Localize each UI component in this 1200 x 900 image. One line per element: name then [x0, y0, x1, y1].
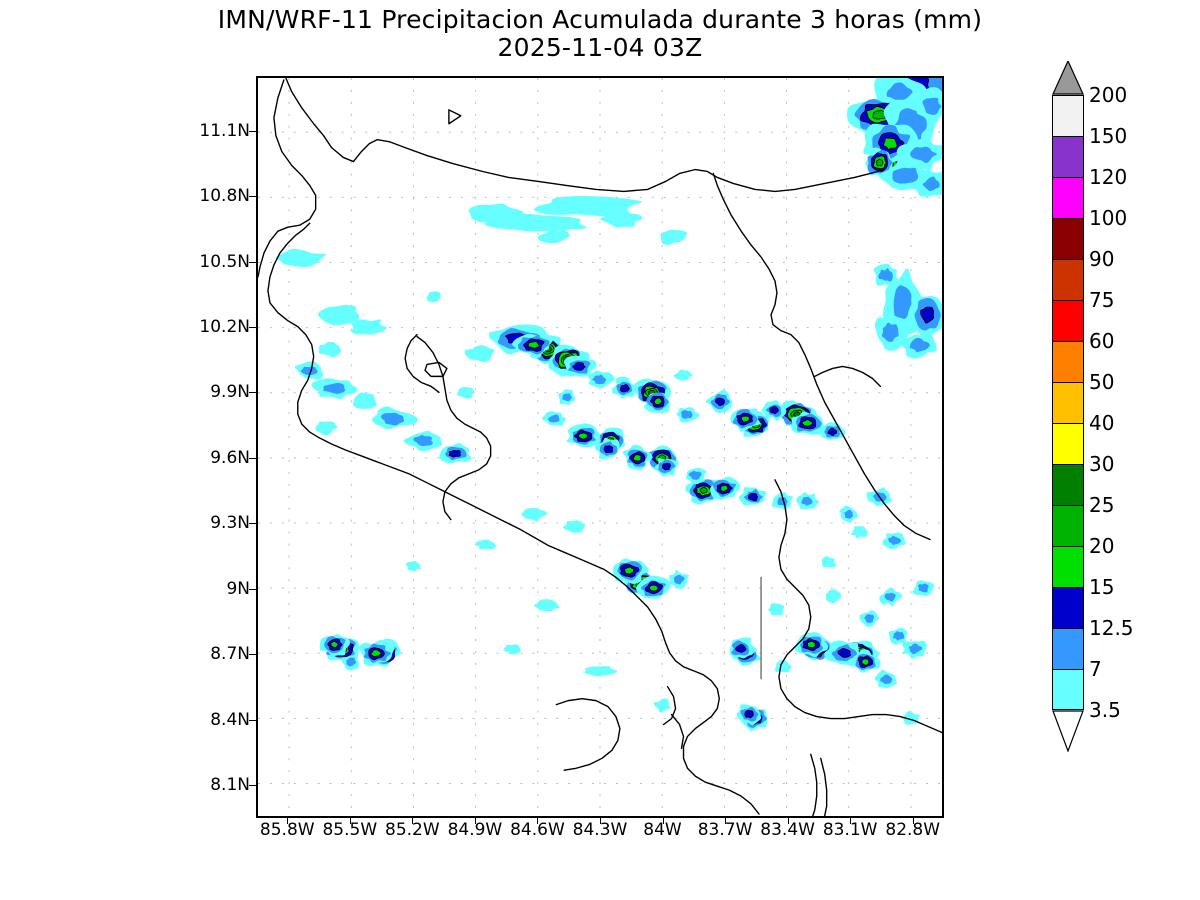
- colorbar-top-arrow: [1052, 61, 1084, 95]
- precipitation-contours: [276, 78, 942, 731]
- precip-cell: [457, 387, 475, 399]
- longitude-tick-mark: [350, 818, 351, 824]
- colorbar-band: [1052, 382, 1084, 423]
- precip-cell: [879, 588, 902, 606]
- precip-cell: [860, 610, 880, 627]
- colorbar-tick-label: 60: [1089, 331, 1114, 351]
- precip-cell: [534, 599, 560, 611]
- precip-cell: [320, 634, 350, 656]
- latitude-tick-mark: [249, 262, 256, 263]
- colorbar-tick-label: 30: [1089, 454, 1114, 474]
- precip-cell: [521, 508, 547, 521]
- colorbar-band: [1052, 464, 1084, 505]
- latitude-tick-mark: [249, 196, 256, 197]
- latitude-tick-mark: [249, 654, 256, 655]
- colorbar-band: [1052, 259, 1084, 300]
- precip-cell: [875, 670, 897, 688]
- precip-cell: [826, 589, 841, 603]
- colorbar-band: [1052, 628, 1084, 669]
- precip-cell: [558, 389, 575, 405]
- latitude-tick-mark: [249, 523, 256, 524]
- colorbar-tick-label: 40: [1089, 413, 1114, 433]
- colorbar-band: [1052, 300, 1084, 341]
- longitude-tick-mark: [788, 818, 789, 824]
- precip-cell: [902, 641, 927, 659]
- longitude-tick-mark: [287, 818, 288, 824]
- precip-cell: [504, 644, 521, 654]
- precip-cell: [587, 371, 614, 389]
- precip-cell: [427, 291, 441, 302]
- colorbar[interactable]: [1052, 95, 1084, 825]
- precip-cell: [661, 230, 687, 245]
- precip-cell: [406, 561, 422, 572]
- precip-cell: [585, 666, 617, 676]
- longitude-tick-mark: [537, 818, 538, 824]
- precip-cell: [912, 580, 933, 596]
- latitude-tick-label: 9N: [196, 579, 250, 599]
- latitude-tick-label: 8.1N: [196, 775, 250, 795]
- longitude-tick-mark: [725, 818, 726, 824]
- colorbar-tick-label: 12.5: [1089, 618, 1134, 638]
- precipitation-map-figure: IMN/WRF-11 Precipitacion Acumulada duran…: [0, 0, 1200, 900]
- latitude-tick-mark: [249, 720, 256, 721]
- precip-cell: [542, 411, 566, 426]
- colorbar-band: [1052, 177, 1084, 218]
- latitude-tick-label: 9.3N: [196, 513, 250, 533]
- figure-title: IMN/WRF-11 Precipitacion Acumulada duran…: [0, 6, 1200, 62]
- precip-cell: [567, 423, 601, 447]
- precip-cell: [901, 334, 937, 358]
- precip-cell: [796, 492, 819, 509]
- precip-cell: [341, 655, 359, 670]
- precip-cell: [655, 458, 678, 476]
- colorbar-band: [1052, 505, 1084, 546]
- colorbar-tick-label: 7: [1089, 659, 1102, 679]
- longitude-tick-mark: [663, 818, 664, 824]
- colorbar-tick-label: 200: [1089, 85, 1127, 105]
- precip-cell: [315, 422, 337, 436]
- longitude-tick-mark: [475, 818, 476, 824]
- colorbar-band: [1052, 136, 1084, 177]
- title-line-1: IMN/WRF-11 Precipitacion Acumulada duran…: [0, 6, 1200, 34]
- precip-cell: [676, 407, 699, 422]
- latitude-tick-label: 10.8N: [196, 186, 250, 206]
- precip-cell: [465, 345, 495, 362]
- colorbar-tick-label: 100: [1089, 208, 1127, 228]
- latitude-tick-label: 9.6N: [196, 448, 250, 468]
- latitude-tick-mark: [249, 392, 256, 393]
- precip-cell: [654, 699, 671, 713]
- latitude-tick-label: 10.2N: [196, 317, 250, 337]
- precip-cell: [822, 556, 837, 567]
- precip-cell: [768, 603, 784, 615]
- latitude-tick-mark: [249, 327, 256, 328]
- precip-cell: [312, 378, 358, 399]
- longitude-tick-mark: [850, 818, 851, 824]
- colorbar-tick-label: 150: [1089, 126, 1127, 146]
- colorbar-tick-label: 15: [1089, 577, 1114, 597]
- colorbar-tick-label: 25: [1089, 495, 1114, 515]
- colorbar-tick-label: 20: [1089, 536, 1114, 556]
- latitude-tick-mark: [249, 458, 256, 459]
- colorbar-band: [1052, 341, 1084, 382]
- precip-cell: [739, 487, 766, 505]
- colorbar-band: [1052, 423, 1084, 464]
- precip-cell: [820, 422, 846, 440]
- precip-cell: [889, 628, 908, 645]
- precip-cell: [669, 570, 689, 589]
- precip-cell: [276, 249, 326, 267]
- colorbar-tick-label: 50: [1089, 372, 1114, 392]
- precip-cell: [439, 443, 471, 463]
- precip-cell: [351, 319, 387, 334]
- precip-cell: [710, 476, 740, 499]
- precip-cell: [353, 393, 377, 409]
- latitude-tick-mark: [249, 131, 256, 132]
- title-line-2: 2025-11-04 03Z: [0, 34, 1200, 62]
- precip-cell: [840, 506, 858, 523]
- latitude-tick-label: 10.5N: [196, 252, 250, 272]
- longitude-tick-mark: [412, 818, 413, 824]
- colorbar-band: [1052, 587, 1084, 628]
- latitude-tick-label: 8.7N: [196, 644, 250, 664]
- latitude-tick-label: 9.9N: [196, 382, 250, 402]
- precip-cell: [623, 445, 653, 470]
- colorbar-tick-label: 3.5: [1089, 700, 1121, 720]
- precip-cell: [563, 520, 585, 532]
- colorbar-tick-label: 120: [1089, 167, 1127, 187]
- precip-cell: [372, 406, 418, 429]
- precip-cell: [404, 431, 442, 451]
- precip-cell: [706, 390, 732, 413]
- colorbar-tick-label: 90: [1089, 249, 1114, 269]
- longitude-tick-mark: [913, 818, 914, 824]
- colorbar-tick-label: 75: [1089, 290, 1114, 310]
- map-plot-area[interactable]: [256, 76, 944, 818]
- latitude-tick-mark: [249, 589, 256, 590]
- colorbar-band: [1052, 669, 1084, 710]
- latitude-tick-mark: [249, 785, 256, 786]
- colorbar-band: [1052, 218, 1084, 259]
- colorbar-band: [1052, 95, 1084, 136]
- precip-cell: [319, 342, 341, 358]
- precip-cell: [612, 377, 637, 398]
- precip-cell: [874, 264, 899, 286]
- colorbar-bottom-arrow: [1052, 710, 1084, 752]
- precip-cell: [882, 533, 906, 549]
- map-canvas: [258, 78, 942, 816]
- latitude-tick-label: 11.1N: [196, 121, 250, 141]
- precip-cell: [476, 540, 496, 550]
- colorbar-band: [1052, 546, 1084, 587]
- latitude-tick-label: 8.4N: [196, 710, 250, 730]
- precip-cell: [851, 526, 868, 538]
- precip-cell: [674, 369, 693, 380]
- longitude-tick-mark: [600, 818, 601, 824]
